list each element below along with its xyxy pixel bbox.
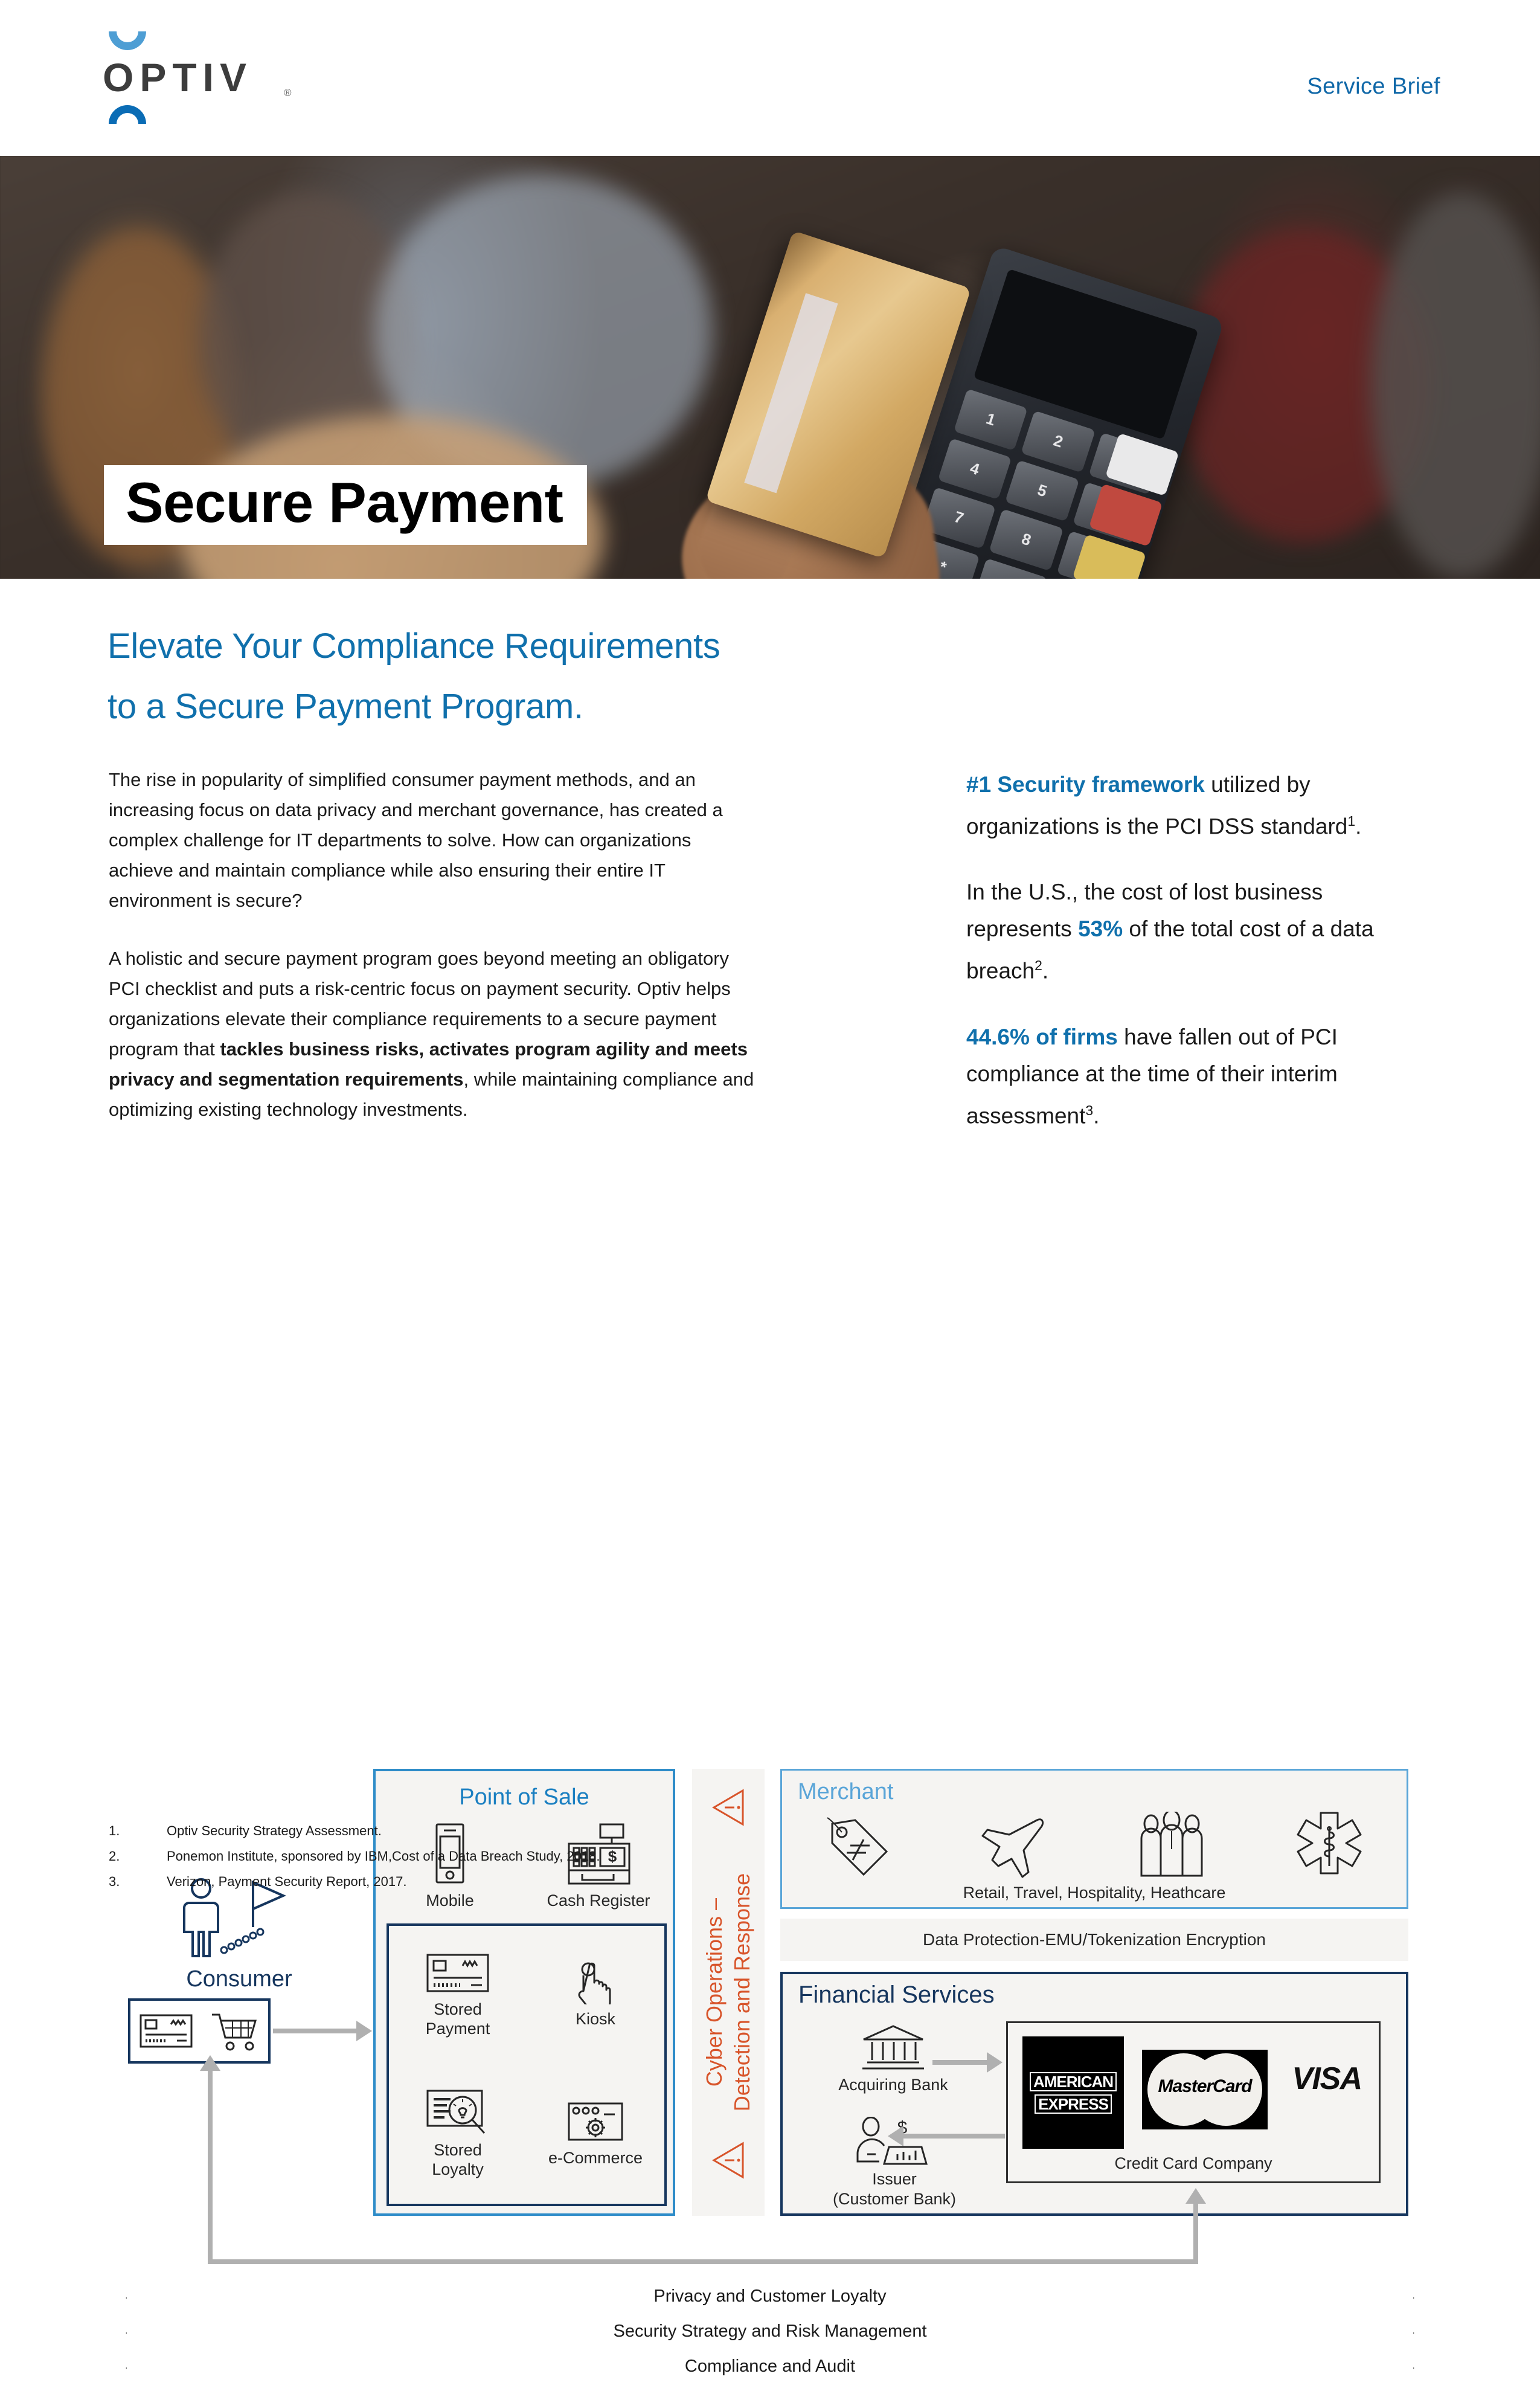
stat-block-3: 44.6% of firms have fallen out of PCI co… — [966, 1019, 1401, 1134]
page-headline: Elevate Your Compliance Requirements to … — [107, 616, 1086, 737]
bank-building-icon — [860, 2025, 926, 2072]
pos-item-kiosk[interactable]: Kiosk — [538, 1962, 653, 2029]
issuer-label-2: (Customer Bank) — [833, 2190, 956, 2208]
cyber-operations-line-1: Cyber Operations – — [701, 1873, 728, 2111]
credit-card-icon — [140, 2013, 193, 2049]
consumer-group: Consumer — [118, 1878, 360, 1992]
arrow-acquiring-to-cc — [932, 2060, 988, 2065]
pos-inner-box: StoredPayment Kiosk — [387, 1923, 667, 2206]
stat-2-accent: 53% — [1078, 916, 1123, 941]
hero-title-plate: Secure Payment — [104, 465, 587, 545]
pos-item-stored-loyalty-label-1: Stored — [434, 2141, 482, 2159]
cyber-operations-label: Cyber Operations – Detection and Respons… — [701, 1873, 756, 2111]
cyber-operations-line-2: Detection and Response — [728, 1873, 756, 2111]
footnote-text: Ponemon Institute, sponsored by IBM,Cost… — [167, 1844, 600, 1869]
warning-triangle-icon — [711, 2141, 745, 2180]
pos-item-kiosk-label: Kiosk — [538, 2009, 653, 2029]
pos-item-stored-payment-label-1: Stored — [434, 2000, 482, 2018]
merchant-title: Merchant — [798, 1779, 893, 1805]
pos-item-ecommerce-label: e-Commerce — [538, 2148, 653, 2168]
stat-3-footnote-ref: 3 — [1085, 1102, 1093, 1118]
intro-text-column: The rise in popularity of simplified con… — [109, 765, 755, 1153]
footnote-text: Optiv Security Strategy Assessment. — [167, 1818, 382, 1844]
arrow-return-path — [208, 2259, 1198, 2264]
issuer-label-1: Issuer — [872, 2170, 917, 2188]
band-label-compliance: Compliance and Audit — [127, 2357, 1413, 2377]
medical-star-icon — [1295, 1812, 1363, 1879]
footnote-number: 3. — [109, 1869, 167, 1894]
acquiring-bank-label: Acquiring Bank — [824, 2075, 963, 2095]
consumer-card-cart-box — [128, 1998, 271, 2064]
stat-3-tail: . — [1093, 1103, 1099, 1128]
band-security-strategy: Security Strategy and Risk Management — [127, 2320, 1413, 2353]
pos-item-ecommerce[interactable]: e-Commerce — [538, 2101, 653, 2168]
amex-line-1: AMERICAN — [1030, 2072, 1117, 2091]
stat-1-tail: . — [1355, 814, 1361, 838]
pos-item-stored-payment-label-2: Payment — [426, 2020, 490, 2038]
pos-item-stored-loyalty-label-2: Loyalty — [432, 2160, 484, 2178]
headline-line-1: Elevate Your Compliance Requirements — [107, 616, 1086, 677]
stats-column: #1 Security framework utilized by organi… — [966, 766, 1401, 1163]
people-group-icon — [1135, 1812, 1208, 1879]
data-protection-band: Data Protection-EMU/Tokenization Encrypt… — [780, 1919, 1408, 1961]
credit-card-company-box: AMERICAN EXPRESS MasterCard VISA Credit … — [1006, 2021, 1381, 2183]
intro-paragraph-2: A holistic and secure payment program go… — [109, 944, 755, 1125]
headline-line-2: to a Secure Payment Program. — [107, 677, 1086, 737]
logo-wordmark: OPTIV — [103, 51, 252, 103]
optiv-logo[interactable]: OPTIV ® — [103, 31, 320, 128]
footnote-row: 2. Ponemon Institute, sponsored by IBM,C… — [109, 1844, 1015, 1869]
consumer-label: Consumer — [118, 1966, 360, 1992]
stored-payment-card-icon — [426, 1952, 489, 1995]
mastercard-wordmark: MasterCard — [1147, 2076, 1262, 2097]
stat-2-footnote-ref: 2 — [1035, 957, 1042, 973]
band-privacy-and-customer-loyalty: Privacy and Customer Loyalty — [127, 2285, 1413, 2318]
amex-logo: AMERICAN EXPRESS — [1022, 2036, 1124, 2149]
footnote-text: Verizon, Payment Security Report, 2017. — [167, 1869, 406, 1894]
mastercard-logo: MasterCard — [1142, 2050, 1268, 2129]
credit-card-company-label: Credit Card Company — [1008, 2154, 1379, 2173]
financial-services-title: Financial Services — [798, 1981, 995, 2009]
footnote-number: 2. — [109, 1844, 167, 1869]
band-label-privacy: Privacy and Customer Loyalty — [127, 2287, 1413, 2306]
intro-paragraph-1: The rise in popularity of simplified con… — [109, 765, 755, 916]
stat-block-2: In the U.S., the cost of lost business r… — [966, 874, 1401, 989]
band-compliance-and-audit: Compliance and Audit — [127, 2355, 1413, 2388]
stat-block-1: #1 Security framework utilized by organi… — [966, 766, 1401, 845]
footnotes-list: 1. Optiv Security Strategy Assessment. 2… — [109, 1818, 1015, 1894]
visa-logo: VISA — [1276, 2061, 1378, 2097]
logo-registered-mark: ® — [284, 87, 292, 99]
logo-arc-top-icon — [109, 31, 146, 50]
pos-item-stored-payment[interactable]: StoredPayment — [400, 1952, 515, 2038]
stat-3-accent: 44.6% of firms — [966, 1025, 1118, 1049]
hero-banner: 123 456 789 *0# Secure Payment — [0, 156, 1540, 579]
stat-1-footnote-ref: 1 — [1347, 813, 1355, 829]
page-header: OPTIV ® Service Brief — [0, 0, 1540, 156]
browser-gear-icon — [568, 2101, 623, 2143]
arrow-up-to-cc-box — [1193, 2204, 1198, 2263]
amex-line-2: EXPRESS — [1035, 2094, 1112, 2114]
financial-services-box: Financial Services Acquiring Bank — [780, 1972, 1408, 2216]
arrow-cc-to-issuer — [903, 2134, 1005, 2139]
touch-hand-icon — [573, 1962, 618, 2004]
pos-item-stored-loyalty[interactable]: StoredLoyalty — [400, 2090, 515, 2179]
logo-arc-bottom-icon — [109, 105, 146, 124]
stat-1-accent: #1 Security framework — [966, 772, 1205, 797]
footnote-number: 1. — [109, 1818, 167, 1844]
service-brief-label: Service Brief — [1307, 74, 1440, 100]
loyalty-insight-icon — [426, 2090, 489, 2135]
hero-title: Secure Payment — [126, 474, 563, 532]
point-of-sale-title: Point of Sale — [376, 1785, 673, 1810]
band-label-security: Security Strategy and Risk Management — [127, 2322, 1413, 2341]
footnote-row: 3. Verizon, Payment Security Report, 201… — [109, 1869, 1015, 1894]
footnote-row: 1. Optiv Security Strategy Assessment. — [109, 1818, 1015, 1844]
stat-2-tail: . — [1042, 959, 1048, 983]
shopping-cart-icon — [211, 2011, 259, 2051]
arrow-consumer-to-pos — [273, 2029, 358, 2033]
